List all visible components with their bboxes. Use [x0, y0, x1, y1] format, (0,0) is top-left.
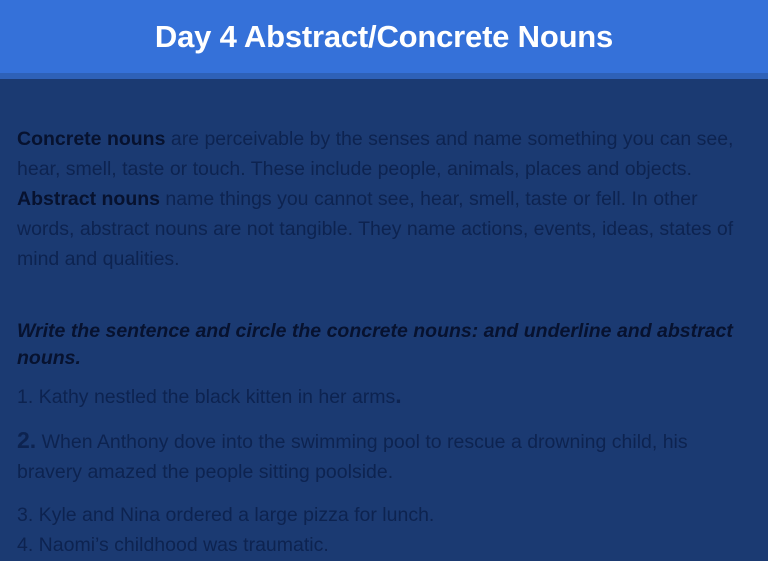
instruction-text: Write the sentence and circle the concre… [17, 318, 737, 372]
concrete-nouns-term: Concrete nouns [17, 128, 165, 150]
exercise-number: 3. [17, 504, 33, 526]
exercise-sentence: When Anthony dove into the swimming pool… [17, 431, 688, 483]
definitions-block: Concrete nouns are perceivable by the se… [17, 124, 739, 274]
exercise-period: . [395, 382, 401, 408]
exercise-number: 2. [17, 427, 36, 453]
exercise-sentence: Naomi’s childhood was traumatic. [33, 534, 329, 556]
exercise-item: 1. Kathy nestled the black kitten in her… [17, 380, 741, 412]
exercise-sentence: Kathy nestled the black kitten in her ar… [33, 386, 395, 408]
slide-title: Day 4 Abstract/Concrete Nouns [0, 18, 768, 56]
exercise-number: 1. [17, 386, 33, 408]
exercise-list: 1. Kathy nestled the black kitten in her… [17, 380, 741, 560]
exercise-item: 4. Naomi’s childhood was traumatic. [17, 530, 741, 560]
slide-body: Concrete nouns are perceivable by the se… [0, 79, 768, 561]
slide: Day 4 Abstract/Concrete Nouns Concrete n… [0, 0, 768, 561]
exercise-item: 2. When Anthony dove into the swimming p… [17, 425, 741, 487]
exercise-item: 3. Kyle and Nina ordered a large pizza f… [17, 500, 741, 530]
exercise-number: 4. [17, 534, 33, 556]
abstract-nouns-term: Abstract nouns [17, 188, 160, 210]
exercise-sentence: Kyle and Nina ordered a large pizza for … [33, 504, 434, 526]
